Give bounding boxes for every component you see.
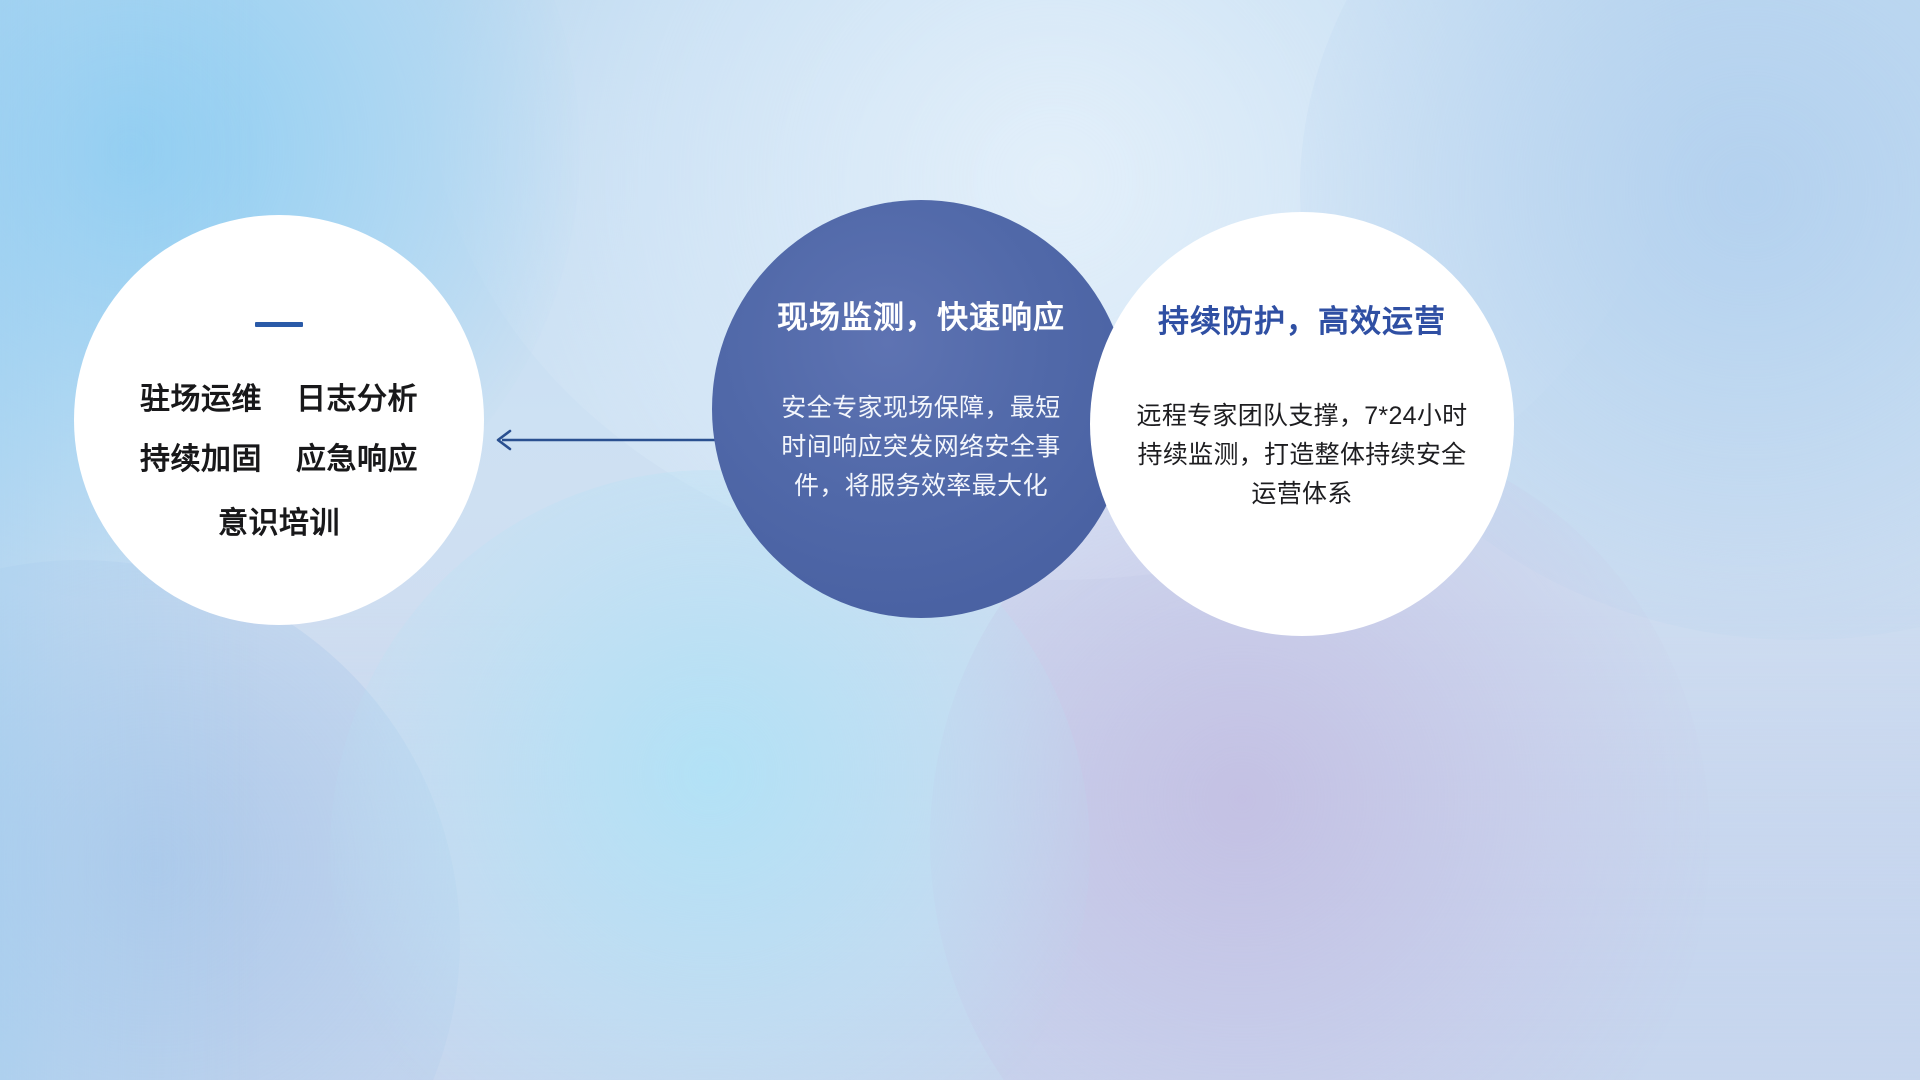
- card-onsite-monitoring[interactable]: 现场监测，快速响应 安全专家现场保障，最短时间响应突发网络安全事件，将服务效率最…: [712, 200, 1130, 618]
- keyword-chip[interactable]: 日志分析: [296, 385, 418, 415]
- card-continuous-protection[interactable]: 持续防护，高效运营 远程专家团队支撑，7*24小时持续监测，打造整体持续安全运营…: [1090, 212, 1514, 636]
- card-body-text: 安全专家现场保障，最短时间响应突发网络安全事件，将服务效率最大化: [771, 389, 1071, 505]
- title-divider-dash: [255, 322, 303, 327]
- keyword-row-2: 持续加固 应急响应: [140, 445, 418, 475]
- card-body-text: 远程专家团队支撑，7*24小时持续监测，打造整体持续安全运营体系: [1129, 397, 1475, 514]
- keyword-chip[interactable]: 应急响应: [296, 445, 418, 475]
- card-title: 持续防护，高效运营: [1158, 306, 1446, 337]
- arrow-icon: [486, 424, 726, 456]
- card-title: 现场监测，快速响应: [777, 302, 1065, 333]
- keyword-row-1: 驻场运维 日志分析: [140, 385, 418, 415]
- keyword-chip[interactable]: 持续加固: [140, 445, 262, 475]
- leftward-flow-arrow: [486, 424, 726, 456]
- keyword-row-3: 意识培训: [218, 509, 340, 539]
- keyword-chip[interactable]: 驻场运维: [140, 385, 262, 415]
- keyword-chip[interactable]: 意识培训: [218, 509, 340, 539]
- card-onsite-ops[interactable]: 驻场运维 日志分析 持续加固 应急响应 意识培训: [74, 215, 484, 625]
